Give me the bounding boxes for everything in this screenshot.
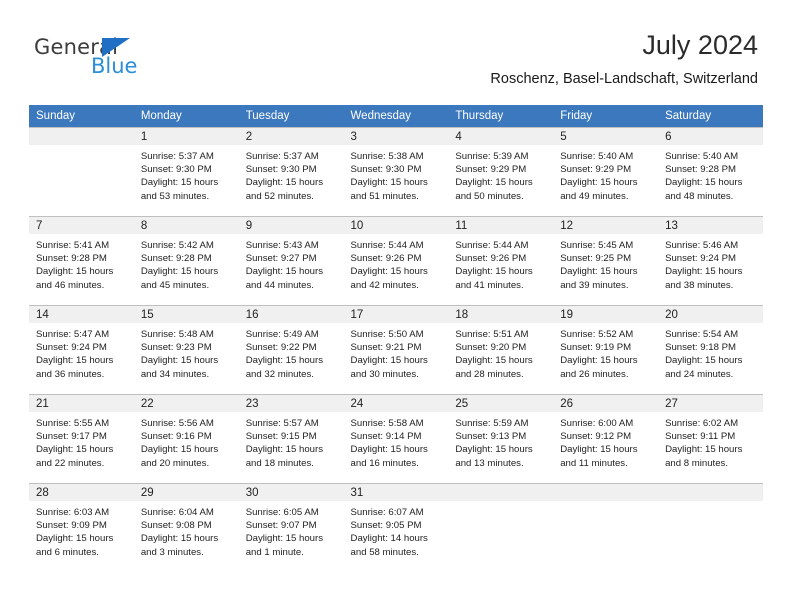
daylight-text-cont: and 41 minutes.: [455, 279, 549, 292]
sunset-text: Sunset: 9:17 PM: [36, 430, 130, 443]
daylight-text-cont: and 22 minutes.: [36, 457, 130, 470]
calendar-cell: 27Sunrise: 6:02 AMSunset: 9:11 PMDayligh…: [658, 394, 763, 483]
calendar-cell: 14Sunrise: 5:47 AMSunset: 9:24 PMDayligh…: [29, 305, 134, 394]
sunset-text: Sunset: 9:30 PM: [141, 163, 235, 176]
day-details: Sunrise: 5:51 AMSunset: 9:20 PMDaylight:…: [448, 323, 553, 381]
daylight-text-cont: and 36 minutes.: [36, 368, 130, 381]
day-details: Sunrise: 5:44 AMSunset: 9:26 PMDaylight:…: [448, 234, 553, 292]
day-cell[interactable]: 16Sunrise: 5:49 AMSunset: 9:22 PMDayligh…: [239, 305, 344, 394]
day-cell[interactable]: 23Sunrise: 5:57 AMSunset: 9:15 PMDayligh…: [239, 394, 344, 483]
daylight-text-cont: and 48 minutes.: [665, 190, 759, 203]
day-number: 15: [134, 306, 239, 323]
daylight-text: Daylight: 15 hours: [665, 443, 759, 456]
daylight-text-cont: and 24 minutes.: [665, 368, 759, 381]
sunrise-text: Sunrise: 5:43 AM: [246, 239, 340, 252]
daylight-text: Daylight: 15 hours: [560, 176, 654, 189]
day-number: [658, 484, 763, 501]
daylight-text: Daylight: 15 hours: [455, 265, 549, 278]
day-cell[interactable]: 13Sunrise: 5:46 AMSunset: 9:24 PMDayligh…: [658, 216, 763, 305]
day-cell[interactable]: 26Sunrise: 6:00 AMSunset: 9:12 PMDayligh…: [553, 394, 658, 483]
day-number: [29, 128, 134, 145]
daylight-text: Daylight: 15 hours: [141, 354, 235, 367]
day-cell[interactable]: 17Sunrise: 5:50 AMSunset: 9:21 PMDayligh…: [344, 305, 449, 394]
day-cell[interactable]: 29Sunrise: 6:04 AMSunset: 9:08 PMDayligh…: [134, 483, 239, 572]
daylight-text-cont: and 44 minutes.: [246, 279, 340, 292]
calendar-cell: [553, 483, 658, 572]
day-number: 26: [553, 395, 658, 412]
day-details: Sunrise: 5:40 AMSunset: 9:29 PMDaylight:…: [553, 145, 658, 203]
sunset-text: Sunset: 9:30 PM: [351, 163, 445, 176]
daylight-text: Daylight: 15 hours: [36, 443, 130, 456]
sunrise-text: Sunrise: 5:44 AM: [351, 239, 445, 252]
calendar-page: General Blue July 2024 Roschenz, Basel-L…: [0, 0, 792, 612]
calendar-body: 1Sunrise: 5:37 AMSunset: 9:30 PMDaylight…: [29, 127, 763, 572]
sunrise-text: Sunrise: 5:37 AM: [246, 150, 340, 163]
daylight-text-cont: and 52 minutes.: [246, 190, 340, 203]
sunset-text: Sunset: 9:22 PM: [246, 341, 340, 354]
weekday-header-saturday: Saturday: [658, 105, 763, 127]
day-number: 30: [239, 484, 344, 501]
day-details: Sunrise: 5:44 AMSunset: 9:26 PMDaylight:…: [344, 234, 449, 292]
sunrise-text: Sunrise: 5:49 AM: [246, 328, 340, 341]
day-cell[interactable]: 11Sunrise: 5:44 AMSunset: 9:26 PMDayligh…: [448, 216, 553, 305]
day-number: 28: [29, 484, 134, 501]
day-details: Sunrise: 5:56 AMSunset: 9:16 PMDaylight:…: [134, 412, 239, 470]
day-details: Sunrise: 6:04 AMSunset: 9:08 PMDaylight:…: [134, 501, 239, 559]
day-cell[interactable]: 19Sunrise: 5:52 AMSunset: 9:19 PMDayligh…: [553, 305, 658, 394]
day-number: 18: [448, 306, 553, 323]
day-details: Sunrise: 5:37 AMSunset: 9:30 PMDaylight:…: [134, 145, 239, 203]
day-details: Sunrise: 5:49 AMSunset: 9:22 PMDaylight:…: [239, 323, 344, 381]
day-details: Sunrise: 5:42 AMSunset: 9:28 PMDaylight:…: [134, 234, 239, 292]
calendar-cell: 1Sunrise: 5:37 AMSunset: 9:30 PMDaylight…: [134, 127, 239, 216]
weekday-header-sunday: Sunday: [29, 105, 134, 127]
day-details: Sunrise: 5:48 AMSunset: 9:23 PMDaylight:…: [134, 323, 239, 381]
day-details: Sunrise: 5:40 AMSunset: 9:28 PMDaylight:…: [658, 145, 763, 203]
calendar-cell: [448, 483, 553, 572]
day-number: 14: [29, 306, 134, 323]
day-number: 22: [134, 395, 239, 412]
title-block: July 2024 Roschenz, Basel-Landschaft, Sw…: [490, 28, 758, 88]
day-number: 12: [553, 217, 658, 234]
weekday-header-monday: Monday: [134, 105, 239, 127]
day-details: Sunrise: 6:07 AMSunset: 9:05 PMDaylight:…: [344, 501, 449, 559]
sunset-text: Sunset: 9:16 PM: [141, 430, 235, 443]
day-number: [553, 484, 658, 501]
sunset-text: Sunset: 9:21 PM: [351, 341, 445, 354]
sunset-text: Sunset: 9:29 PM: [560, 163, 654, 176]
day-cell[interactable]: 21Sunrise: 5:55 AMSunset: 9:17 PMDayligh…: [29, 394, 134, 483]
daylight-text: Daylight: 15 hours: [246, 443, 340, 456]
day-cell[interactable]: 25Sunrise: 5:59 AMSunset: 9:13 PMDayligh…: [448, 394, 553, 483]
daylight-text: Daylight: 15 hours: [246, 532, 340, 545]
sunrise-text: Sunrise: 5:58 AM: [351, 417, 445, 430]
sunset-text: Sunset: 9:19 PM: [560, 341, 654, 354]
day-cell[interactable]: 28Sunrise: 6:03 AMSunset: 9:09 PMDayligh…: [29, 483, 134, 572]
day-cell[interactable]: 12Sunrise: 5:45 AMSunset: 9:25 PMDayligh…: [553, 216, 658, 305]
day-number: 16: [239, 306, 344, 323]
sunrise-text: Sunrise: 5:42 AM: [141, 239, 235, 252]
calendar-cell: 18Sunrise: 5:51 AMSunset: 9:20 PMDayligh…: [448, 305, 553, 394]
calendar-cell: 3Sunrise: 5:38 AMSunset: 9:30 PMDaylight…: [344, 127, 449, 216]
calendar-cell: 9Sunrise: 5:43 AMSunset: 9:27 PMDaylight…: [239, 216, 344, 305]
day-cell[interactable]: 27Sunrise: 6:02 AMSunset: 9:11 PMDayligh…: [658, 394, 763, 483]
calendar-cell: 19Sunrise: 5:52 AMSunset: 9:19 PMDayligh…: [553, 305, 658, 394]
day-number: 24: [344, 395, 449, 412]
calendar-cell: 8Sunrise: 5:42 AMSunset: 9:28 PMDaylight…: [134, 216, 239, 305]
calendar-cell: 23Sunrise: 5:57 AMSunset: 9:15 PMDayligh…: [239, 394, 344, 483]
sunset-text: Sunset: 9:11 PM: [665, 430, 759, 443]
calendar-cell: 6Sunrise: 5:40 AMSunset: 9:28 PMDaylight…: [658, 127, 763, 216]
sunset-text: Sunset: 9:27 PM: [246, 252, 340, 265]
sunset-text: Sunset: 9:28 PM: [665, 163, 759, 176]
day-cell[interactable]: 30Sunrise: 6:05 AMSunset: 9:07 PMDayligh…: [239, 483, 344, 572]
day-cell[interactable]: 9Sunrise: 5:43 AMSunset: 9:27 PMDaylight…: [239, 216, 344, 305]
daylight-text-cont: and 51 minutes.: [351, 190, 445, 203]
sunset-text: Sunset: 9:28 PM: [36, 252, 130, 265]
calendar-cell: 11Sunrise: 5:44 AMSunset: 9:26 PMDayligh…: [448, 216, 553, 305]
calendar-header-row: SundayMondayTuesdayWednesdayThursdayFrid…: [29, 105, 763, 127]
day-details: Sunrise: 5:50 AMSunset: 9:21 PMDaylight:…: [344, 323, 449, 381]
sunset-text: Sunset: 9:26 PM: [455, 252, 549, 265]
daylight-text: Daylight: 15 hours: [665, 354, 759, 367]
day-number: 7: [29, 217, 134, 234]
daylight-text: Daylight: 15 hours: [455, 443, 549, 456]
daylight-text: Daylight: 15 hours: [665, 176, 759, 189]
day-number: 17: [344, 306, 449, 323]
calendar-cell: 7Sunrise: 5:41 AMSunset: 9:28 PMDaylight…: [29, 216, 134, 305]
calendar-week-row: 7Sunrise: 5:41 AMSunset: 9:28 PMDaylight…: [29, 216, 763, 305]
sunset-text: Sunset: 9:05 PM: [351, 519, 445, 532]
daylight-text: Daylight: 15 hours: [36, 532, 130, 545]
sunrise-text: Sunrise: 6:00 AM: [560, 417, 654, 430]
day-cell[interactable]: 18Sunrise: 5:51 AMSunset: 9:20 PMDayligh…: [448, 305, 553, 394]
sunrise-text: Sunrise: 5:44 AM: [455, 239, 549, 252]
daylight-text-cont: and 3 minutes.: [141, 546, 235, 559]
sunrise-text: Sunrise: 5:52 AM: [560, 328, 654, 341]
sunrise-text: Sunrise: 5:41 AM: [36, 239, 130, 252]
day-details: Sunrise: 5:37 AMSunset: 9:30 PMDaylight:…: [239, 145, 344, 203]
day-details: Sunrise: 5:57 AMSunset: 9:15 PMDaylight:…: [239, 412, 344, 470]
day-cell[interactable]: 8Sunrise: 5:42 AMSunset: 9:28 PMDaylight…: [134, 216, 239, 305]
sunrise-text: Sunrise: 5:46 AM: [665, 239, 759, 252]
day-cell[interactable]: 24Sunrise: 5:58 AMSunset: 9:14 PMDayligh…: [344, 394, 449, 483]
sunrise-text: Sunrise: 6:02 AM: [665, 417, 759, 430]
day-number: 5: [553, 128, 658, 145]
sunset-text: Sunset: 9:12 PM: [560, 430, 654, 443]
daylight-text: Daylight: 15 hours: [665, 265, 759, 278]
sunset-text: Sunset: 9:24 PM: [36, 341, 130, 354]
day-number: 21: [29, 395, 134, 412]
page-title: July 2024: [490, 28, 758, 62]
day-number: 19: [553, 306, 658, 323]
page-header: General Blue July 2024 Roschenz, Basel-L…: [34, 28, 758, 98]
daylight-text: Daylight: 15 hours: [36, 265, 130, 278]
day-cell-empty: [553, 483, 658, 572]
day-number: 9: [239, 217, 344, 234]
calendar-cell: 25Sunrise: 5:59 AMSunset: 9:13 PMDayligh…: [448, 394, 553, 483]
daylight-text-cont: and 49 minutes.: [560, 190, 654, 203]
day-number: 6: [658, 128, 763, 145]
day-details: Sunrise: 5:38 AMSunset: 9:30 PMDaylight:…: [344, 145, 449, 203]
calendar-cell: 2Sunrise: 5:37 AMSunset: 9:30 PMDaylight…: [239, 127, 344, 216]
weekday-header-thursday: Thursday: [448, 105, 553, 127]
daylight-text-cont: and 8 minutes.: [665, 457, 759, 470]
calendar-cell: 17Sunrise: 5:50 AMSunset: 9:21 PMDayligh…: [344, 305, 449, 394]
day-number: 11: [448, 217, 553, 234]
calendar-week-row: 1Sunrise: 5:37 AMSunset: 9:30 PMDaylight…: [29, 127, 763, 216]
brand-word-blue: Blue: [91, 55, 137, 77]
day-cell[interactable]: 6Sunrise: 5:40 AMSunset: 9:28 PMDaylight…: [658, 127, 763, 216]
day-details: Sunrise: 5:43 AMSunset: 9:27 PMDaylight:…: [239, 234, 344, 292]
day-cell-empty: [29, 127, 134, 216]
daylight-text-cont: and 50 minutes.: [455, 190, 549, 203]
daylight-text-cont: and 39 minutes.: [560, 279, 654, 292]
sunset-text: Sunset: 9:18 PM: [665, 341, 759, 354]
sunrise-text: Sunrise: 6:03 AM: [36, 506, 130, 519]
daylight-text-cont: and 46 minutes.: [36, 279, 130, 292]
calendar-cell: 15Sunrise: 5:48 AMSunset: 9:23 PMDayligh…: [134, 305, 239, 394]
sunset-text: Sunset: 9:14 PM: [351, 430, 445, 443]
daylight-text: Daylight: 15 hours: [36, 354, 130, 367]
day-number: 10: [344, 217, 449, 234]
calendar-week-row: 21Sunrise: 5:55 AMSunset: 9:17 PMDayligh…: [29, 394, 763, 483]
sunset-text: Sunset: 9:30 PM: [246, 163, 340, 176]
sunrise-text: Sunrise: 5:39 AM: [455, 150, 549, 163]
daylight-text: Daylight: 15 hours: [141, 443, 235, 456]
calendar-cell: 31Sunrise: 6:07 AMSunset: 9:05 PMDayligh…: [344, 483, 449, 572]
day-number: 13: [658, 217, 763, 234]
day-cell[interactable]: 4Sunrise: 5:39 AMSunset: 9:29 PMDaylight…: [448, 127, 553, 216]
weekday-header-wednesday: Wednesday: [344, 105, 449, 127]
day-details: Sunrise: 6:05 AMSunset: 9:07 PMDaylight:…: [239, 501, 344, 559]
calendar-cell: 20Sunrise: 5:54 AMSunset: 9:18 PMDayligh…: [658, 305, 763, 394]
daylight-text-cont: and 32 minutes.: [246, 368, 340, 381]
day-number: 29: [134, 484, 239, 501]
day-details: Sunrise: 5:54 AMSunset: 9:18 PMDaylight:…: [658, 323, 763, 381]
daylight-text: Daylight: 15 hours: [351, 176, 445, 189]
day-number: 2: [239, 128, 344, 145]
daylight-text-cont: and 42 minutes.: [351, 279, 445, 292]
day-cell[interactable]: 31Sunrise: 6:07 AMSunset: 9:05 PMDayligh…: [344, 483, 449, 572]
daylight-text-cont: and 38 minutes.: [665, 279, 759, 292]
daylight-text: Daylight: 15 hours: [351, 354, 445, 367]
daylight-text-cont: and 16 minutes.: [351, 457, 445, 470]
daylight-text: Daylight: 15 hours: [246, 176, 340, 189]
daylight-text-cont: and 53 minutes.: [141, 190, 235, 203]
calendar-cell: [658, 483, 763, 572]
daylight-text-cont: and 6 minutes.: [36, 546, 130, 559]
day-cell[interactable]: 2Sunrise: 5:37 AMSunset: 9:30 PMDaylight…: [239, 127, 344, 216]
day-number: 1: [134, 128, 239, 145]
day-details: Sunrise: 5:45 AMSunset: 9:25 PMDaylight:…: [553, 234, 658, 292]
sunset-text: Sunset: 9:25 PM: [560, 252, 654, 265]
day-details: Sunrise: 6:00 AMSunset: 9:12 PMDaylight:…: [553, 412, 658, 470]
calendar-cell: 13Sunrise: 5:46 AMSunset: 9:24 PMDayligh…: [658, 216, 763, 305]
day-number: 4: [448, 128, 553, 145]
calendar-cell: 16Sunrise: 5:49 AMSunset: 9:22 PMDayligh…: [239, 305, 344, 394]
weekday-header-tuesday: Tuesday: [239, 105, 344, 127]
day-details: Sunrise: 5:41 AMSunset: 9:28 PMDaylight:…: [29, 234, 134, 292]
day-details: Sunrise: 5:59 AMSunset: 9:13 PMDaylight:…: [448, 412, 553, 470]
sunrise-text: Sunrise: 5:55 AM: [36, 417, 130, 430]
day-number: 20: [658, 306, 763, 323]
daylight-text-cont: and 1 minute.: [246, 546, 340, 559]
sunrise-text: Sunrise: 5:48 AM: [141, 328, 235, 341]
sunrise-text: Sunrise: 5:38 AM: [351, 150, 445, 163]
sunrise-text: Sunrise: 5:59 AM: [455, 417, 549, 430]
daylight-text: Daylight: 15 hours: [141, 176, 235, 189]
day-details: Sunrise: 5:52 AMSunset: 9:19 PMDaylight:…: [553, 323, 658, 381]
day-cell-empty: [448, 483, 553, 572]
calendar-week-row: 14Sunrise: 5:47 AMSunset: 9:24 PMDayligh…: [29, 305, 763, 394]
day-cell[interactable]: 5Sunrise: 5:40 AMSunset: 9:29 PMDaylight…: [553, 127, 658, 216]
daylight-text-cont: and 18 minutes.: [246, 457, 340, 470]
day-number: 23: [239, 395, 344, 412]
sunset-text: Sunset: 9:07 PM: [246, 519, 340, 532]
sunrise-text: Sunrise: 5:45 AM: [560, 239, 654, 252]
day-number: 8: [134, 217, 239, 234]
calendar-cell: 12Sunrise: 5:45 AMSunset: 9:25 PMDayligh…: [553, 216, 658, 305]
calendar-cell: 21Sunrise: 5:55 AMSunset: 9:17 PMDayligh…: [29, 394, 134, 483]
daylight-text-cont: and 45 minutes.: [141, 279, 235, 292]
daylight-text: Daylight: 15 hours: [351, 443, 445, 456]
day-number: 27: [658, 395, 763, 412]
daylight-text: Daylight: 15 hours: [141, 265, 235, 278]
calendar-cell: 24Sunrise: 5:58 AMSunset: 9:14 PMDayligh…: [344, 394, 449, 483]
sunrise-text: Sunrise: 5:37 AM: [141, 150, 235, 163]
sunrise-text: Sunrise: 5:56 AM: [141, 417, 235, 430]
calendar-table: SundayMondayTuesdayWednesdayThursdayFrid…: [29, 105, 763, 572]
calendar-cell: 28Sunrise: 6:03 AMSunset: 9:09 PMDayligh…: [29, 483, 134, 572]
calendar-cell: 10Sunrise: 5:44 AMSunset: 9:26 PMDayligh…: [344, 216, 449, 305]
day-number: 31: [344, 484, 449, 501]
day-details: Sunrise: 5:47 AMSunset: 9:24 PMDaylight:…: [29, 323, 134, 381]
day-details: Sunrise: 5:55 AMSunset: 9:17 PMDaylight:…: [29, 412, 134, 470]
calendar-cell: 5Sunrise: 5:40 AMSunset: 9:29 PMDaylight…: [553, 127, 658, 216]
day-cell[interactable]: 3Sunrise: 5:38 AMSunset: 9:30 PMDaylight…: [344, 127, 449, 216]
sunset-text: Sunset: 9:28 PM: [141, 252, 235, 265]
sunrise-text: Sunrise: 5:51 AM: [455, 328, 549, 341]
sunset-text: Sunset: 9:26 PM: [351, 252, 445, 265]
sunrise-text: Sunrise: 5:40 AM: [560, 150, 654, 163]
sunrise-text: Sunrise: 5:50 AM: [351, 328, 445, 341]
weekday-header-friday: Friday: [553, 105, 658, 127]
daylight-text-cont: and 20 minutes.: [141, 457, 235, 470]
day-details: Sunrise: 5:39 AMSunset: 9:29 PMDaylight:…: [448, 145, 553, 203]
calendar-cell: 4Sunrise: 5:39 AMSunset: 9:29 PMDaylight…: [448, 127, 553, 216]
day-number: [448, 484, 553, 501]
sunset-text: Sunset: 9:09 PM: [36, 519, 130, 532]
calendar-cell: 30Sunrise: 6:05 AMSunset: 9:07 PMDayligh…: [239, 483, 344, 572]
daylight-text-cont: and 26 minutes.: [560, 368, 654, 381]
sunset-text: Sunset: 9:20 PM: [455, 341, 549, 354]
day-cell[interactable]: 7Sunrise: 5:41 AMSunset: 9:28 PMDaylight…: [29, 216, 134, 305]
brand-logo[interactable]: General Blue: [34, 36, 234, 86]
daylight-text-cont: and 34 minutes.: [141, 368, 235, 381]
day-cell[interactable]: 10Sunrise: 5:44 AMSunset: 9:26 PMDayligh…: [344, 216, 449, 305]
day-number: 3: [344, 128, 449, 145]
daylight-text-cont: and 11 minutes.: [560, 457, 654, 470]
sunrise-text: Sunrise: 5:47 AM: [36, 328, 130, 341]
daylight-text: Daylight: 15 hours: [351, 265, 445, 278]
day-details: Sunrise: 6:02 AMSunset: 9:11 PMDaylight:…: [658, 412, 763, 470]
daylight-text: Daylight: 15 hours: [560, 443, 654, 456]
sunrise-text: Sunrise: 5:40 AM: [665, 150, 759, 163]
weekday-header: SundayMondayTuesdayWednesdayThursdayFrid…: [29, 105, 763, 127]
calendar-cell: 22Sunrise: 5:56 AMSunset: 9:16 PMDayligh…: [134, 394, 239, 483]
day-cell[interactable]: 20Sunrise: 5:54 AMSunset: 9:18 PMDayligh…: [658, 305, 763, 394]
calendar-week-row: 28Sunrise: 6:03 AMSunset: 9:09 PMDayligh…: [29, 483, 763, 572]
daylight-text: Daylight: 15 hours: [455, 354, 549, 367]
calendar-cell: [29, 127, 134, 216]
sunrise-text: Sunrise: 6:04 AM: [141, 506, 235, 519]
sunrise-text: Sunrise: 6:07 AM: [351, 506, 445, 519]
daylight-text-cont: and 28 minutes.: [455, 368, 549, 381]
daylight-text-cont: and 30 minutes.: [351, 368, 445, 381]
daylight-text: Daylight: 15 hours: [455, 176, 549, 189]
sunrise-text: Sunrise: 5:54 AM: [665, 328, 759, 341]
sunset-text: Sunset: 9:08 PM: [141, 519, 235, 532]
sunset-text: Sunset: 9:15 PM: [246, 430, 340, 443]
daylight-text: Daylight: 15 hours: [141, 532, 235, 545]
sunset-text: Sunset: 9:13 PM: [455, 430, 549, 443]
daylight-text: Daylight: 15 hours: [246, 354, 340, 367]
daylight-text: Daylight: 15 hours: [246, 265, 340, 278]
day-cell-empty: [658, 483, 763, 572]
sunrise-text: Sunrise: 6:05 AM: [246, 506, 340, 519]
page-subtitle: Roschenz, Basel-Landschaft, Switzerland: [490, 70, 758, 88]
daylight-text: Daylight: 15 hours: [560, 354, 654, 367]
day-cell[interactable]: 22Sunrise: 5:56 AMSunset: 9:16 PMDayligh…: [134, 394, 239, 483]
day-cell[interactable]: 14Sunrise: 5:47 AMSunset: 9:24 PMDayligh…: [29, 305, 134, 394]
day-details: Sunrise: 6:03 AMSunset: 9:09 PMDaylight:…: [29, 501, 134, 559]
day-cell[interactable]: 15Sunrise: 5:48 AMSunset: 9:23 PMDayligh…: [134, 305, 239, 394]
sunset-text: Sunset: 9:29 PM: [455, 163, 549, 176]
day-cell[interactable]: 1Sunrise: 5:37 AMSunset: 9:30 PMDaylight…: [134, 127, 239, 216]
day-details: Sunrise: 5:58 AMSunset: 9:14 PMDaylight:…: [344, 412, 449, 470]
sunrise-text: Sunrise: 5:57 AM: [246, 417, 340, 430]
calendar-cell: 29Sunrise: 6:04 AMSunset: 9:08 PMDayligh…: [134, 483, 239, 572]
day-details: Sunrise: 5:46 AMSunset: 9:24 PMDaylight:…: [658, 234, 763, 292]
daylight-text: Daylight: 14 hours: [351, 532, 445, 545]
day-number: 25: [448, 395, 553, 412]
daylight-text-cont: and 13 minutes.: [455, 457, 549, 470]
daylight-text-cont: and 58 minutes.: [351, 546, 445, 559]
sunset-text: Sunset: 9:23 PM: [141, 341, 235, 354]
daylight-text: Daylight: 15 hours: [560, 265, 654, 278]
calendar-cell: 26Sunrise: 6:00 AMSunset: 9:12 PMDayligh…: [553, 394, 658, 483]
sunset-text: Sunset: 9:24 PM: [665, 252, 759, 265]
